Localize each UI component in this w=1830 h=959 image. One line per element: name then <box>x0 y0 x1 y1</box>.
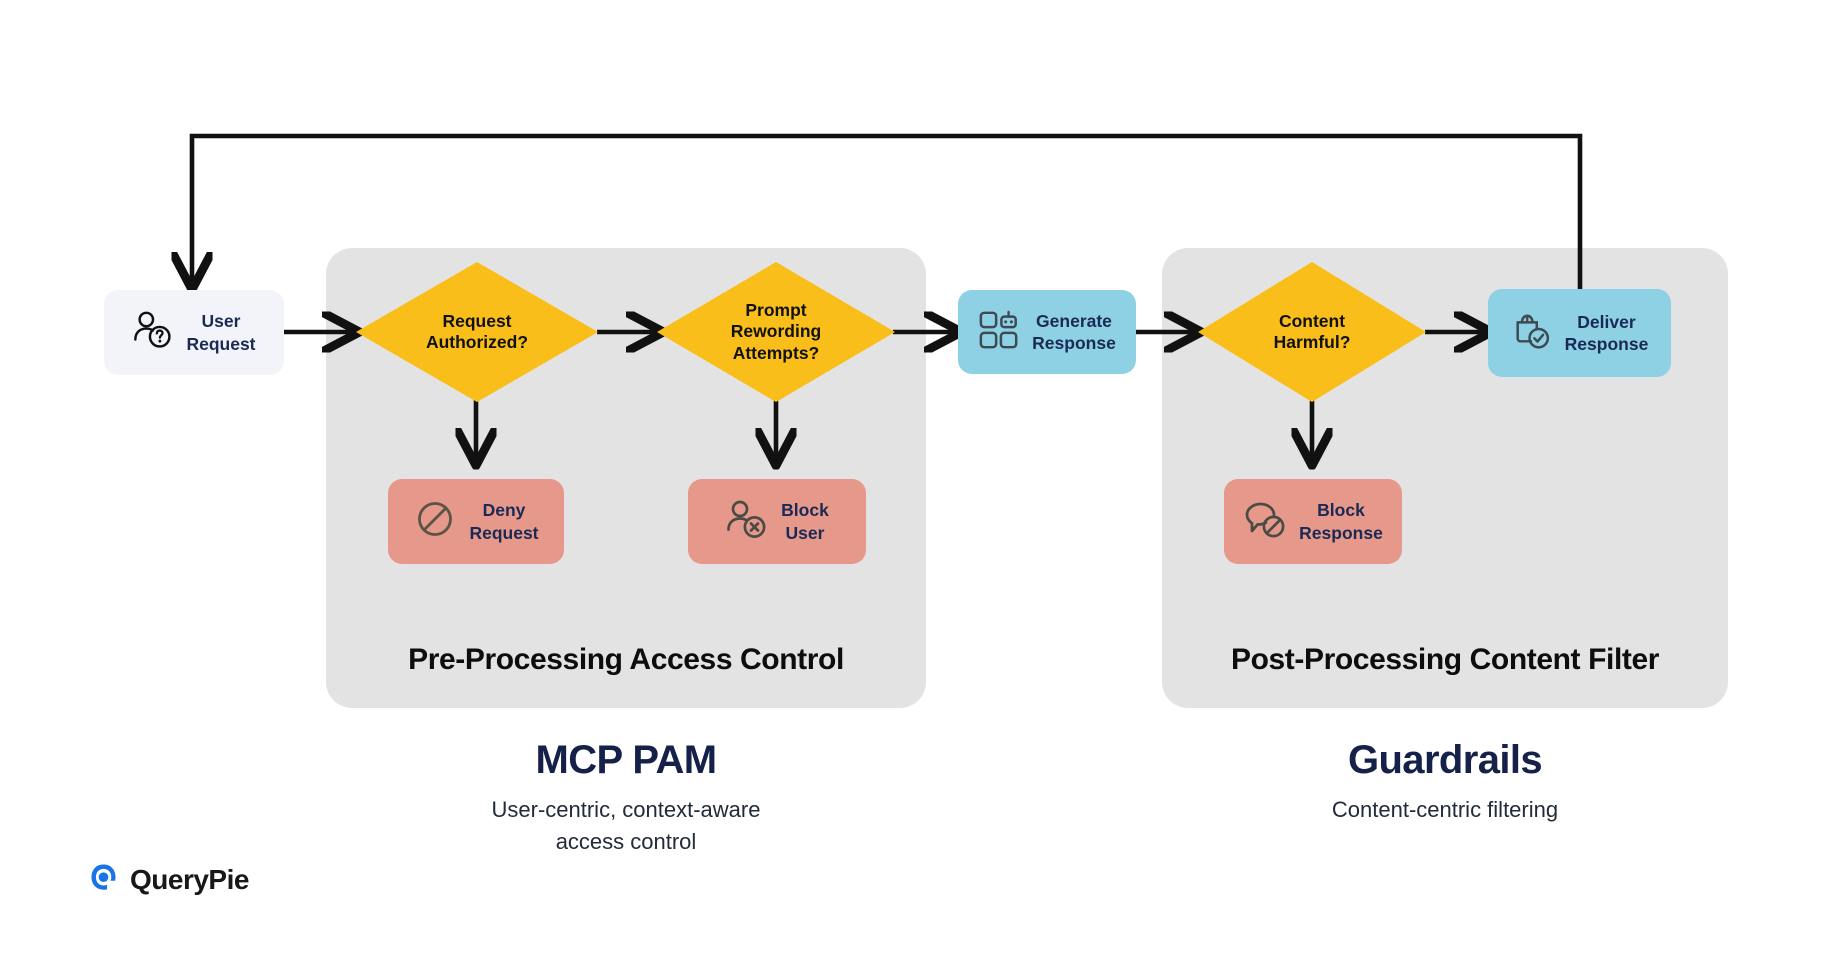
node-prompt-rewording[interactable]: Prompt Rewording Attempts? <box>657 262 895 402</box>
node-generate-response[interactable]: Generate Response <box>958 290 1136 374</box>
chat-ban-icon <box>1243 497 1287 546</box>
node-block-user[interactable]: Block User <box>688 479 866 564</box>
caption-left-title: MCP PAM <box>326 738 926 782</box>
node-deliver-response-label: Deliver Response <box>1565 311 1649 356</box>
caption-right-subtitle: Content-centric filtering <box>1162 794 1728 826</box>
node-deny-request[interactable]: Deny Request <box>388 479 564 564</box>
caption-right-title: Guardrails <box>1162 738 1728 782</box>
querypie-logo-text: QueryPie <box>130 864 249 896</box>
node-deny-request-label: Deny Request <box>469 499 538 544</box>
user-question-icon <box>132 309 174 356</box>
node-user-request-label: User Request <box>186 310 255 355</box>
node-block-response-label: Block Response <box>1299 499 1383 544</box>
node-request-authorized[interactable]: Request Authorized? <box>356 262 598 402</box>
ban-icon <box>413 497 457 546</box>
node-block-user-label: Block User <box>781 499 829 544</box>
node-user-request[interactable]: User Request <box>104 290 284 375</box>
robot-grid-icon <box>978 309 1020 356</box>
querypie-logo: QueryPie <box>88 862 249 898</box>
decision-diamond-icon <box>1198 262 1426 402</box>
node-block-response[interactable]: Block Response <box>1224 479 1402 564</box>
package-check-icon <box>1511 310 1553 357</box>
node-deliver-response[interactable]: Deliver Response <box>1488 289 1671 377</box>
node-generate-response-label: Generate Response <box>1032 310 1116 355</box>
caption-left: MCP PAM User-centric, context-aware acce… <box>326 738 926 858</box>
caption-right: Guardrails Content-centric filtering <box>1162 738 1728 826</box>
node-content-harmful[interactable]: Content Harmful? <box>1198 262 1426 402</box>
querypie-logo-icon <box>88 862 119 898</box>
diagram-canvas: Pre-Processing Access Control Post-Proce… <box>0 0 1830 959</box>
decision-diamond-icon <box>657 262 895 402</box>
decision-diamond-icon <box>356 262 598 402</box>
caption-left-subtitle: User-centric, context-aware access contr… <box>326 794 926 858</box>
panel-pre-processing-title: Pre-Processing Access Control <box>326 643 926 677</box>
panel-post-processing-title: Post-Processing Content Filter <box>1162 643 1728 677</box>
user-block-icon <box>725 497 769 546</box>
